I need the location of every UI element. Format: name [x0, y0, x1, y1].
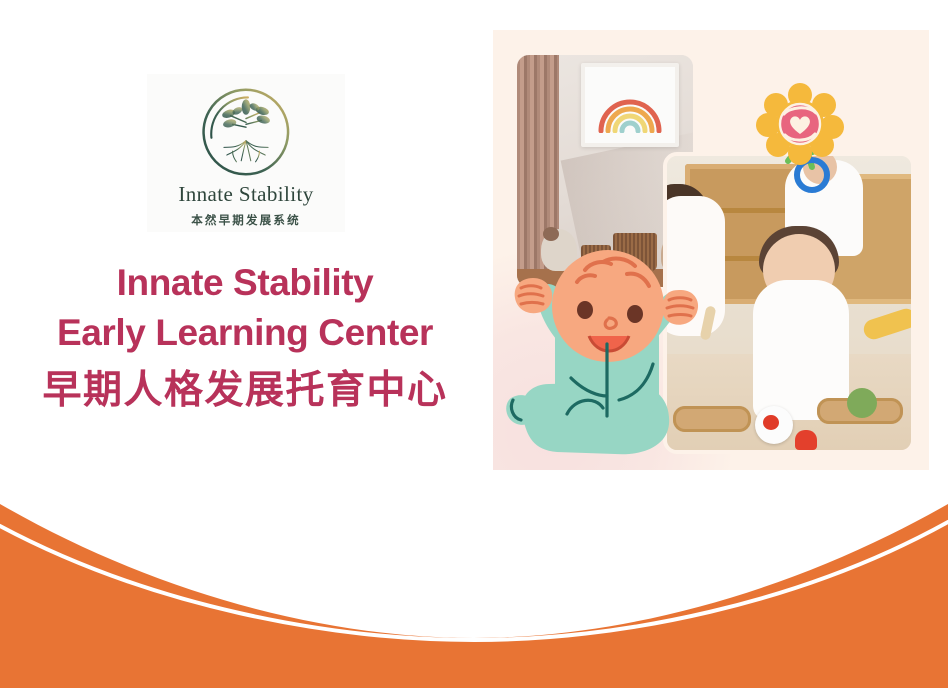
photo-collage — [493, 30, 929, 470]
rainbow-icon — [595, 91, 665, 133]
green-toy-apple — [847, 388, 877, 418]
tree-with-roots-in-circle-icon — [198, 84, 294, 180]
toy-ball-red-dot — [763, 415, 779, 430]
logo-wordmark: Innate Stability — [178, 184, 313, 205]
brand-logo-card: Innate Stability 本然早期发展系统 — [147, 74, 345, 232]
red-toy-piece — [795, 430, 817, 450]
poster-canvas: Innate Stability 本然早期发展系统 Innate Stabili… — [0, 0, 948, 688]
cartoon-baby-sticker-icon — [503, 248, 713, 466]
headline-line-1: Innate Stability — [0, 258, 490, 308]
headline-line-2: Early Learning Center — [0, 308, 490, 358]
headline-line-chinese: 早期人格发展托育中心 — [0, 366, 490, 417]
left-content-column: Innate Stability 本然早期发展系统 Innate Stabili… — [0, 0, 480, 490]
page-title: Innate Stability Early Learning Center 早… — [0, 258, 490, 417]
orange-wave-footer — [0, 488, 948, 688]
logo-subtitle-chinese: 本然早期发展系统 — [191, 212, 301, 228]
plush-dog-ear — [543, 227, 559, 241]
rainbow-art-frame — [581, 63, 679, 147]
flower-heart-sticker-icon — [754, 83, 846, 195]
white-toy-ball — [755, 406, 793, 444]
